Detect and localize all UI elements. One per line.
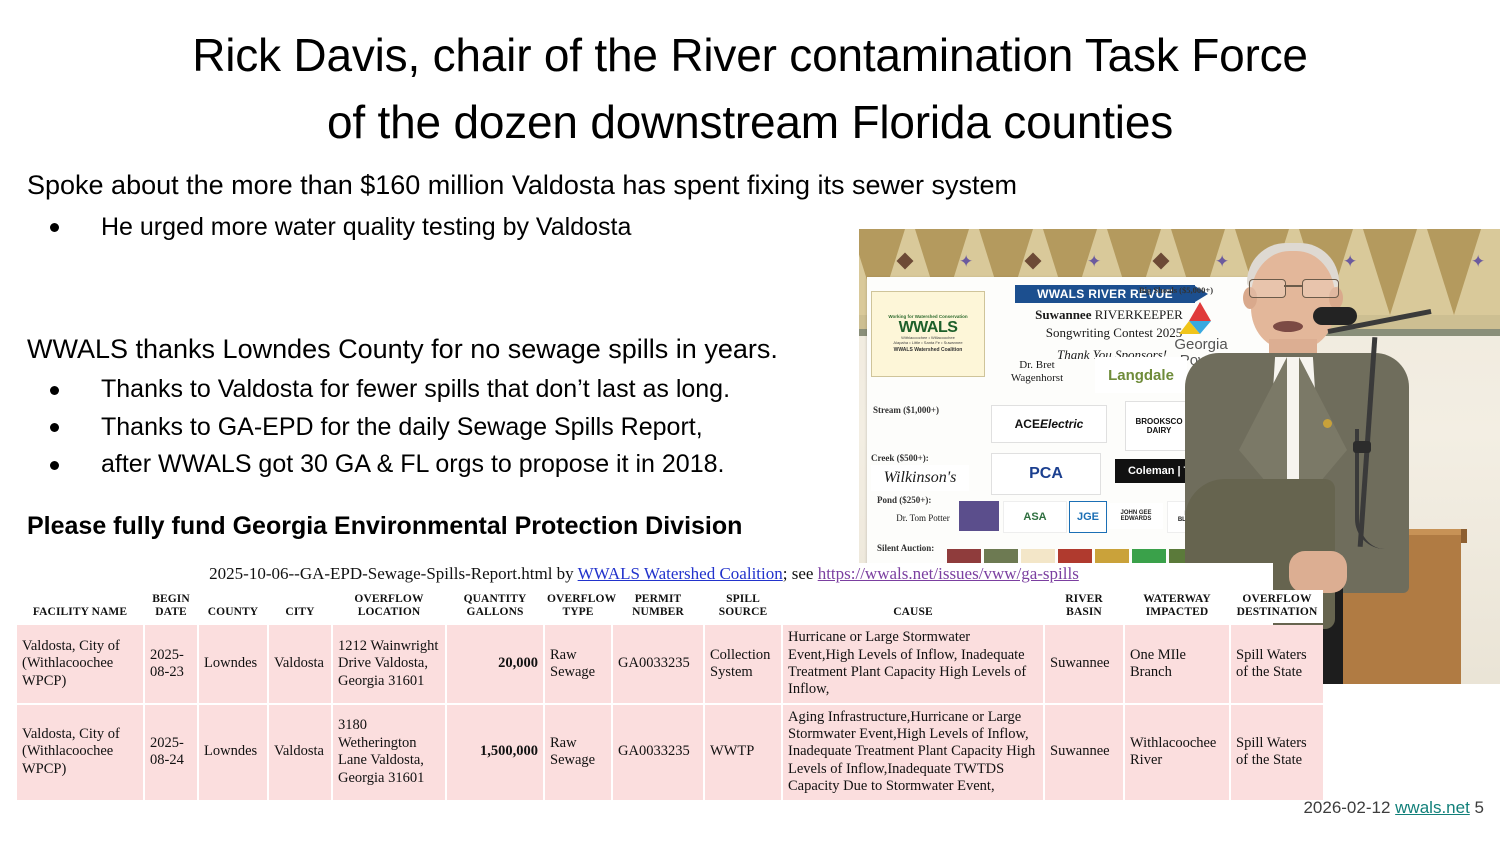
cell-cause: Aging Infrastructure,Hurricane or Large …: [783, 705, 1043, 800]
speaker-mouth: [1273, 321, 1303, 332]
cell-spill-source: Collection System: [705, 625, 781, 703]
column-header-waterway-impacted: WATERWAY IMPACTED: [1125, 590, 1229, 623]
table-head: FACILITY NAME BEGIN DATE COUNTY CITY OVE…: [17, 590, 1323, 623]
microphone-clip: [1353, 441, 1371, 453]
table-body: Valdosta, City of (Withlacoochee WPCP) 2…: [17, 625, 1323, 800]
wwals-logo-org: WWALS Watershed Coalition: [894, 348, 963, 353]
wwals-logo-rivers: Withlacoochee • WillacoocheeAlapaha • Li…: [893, 336, 962, 344]
ace-electric-logo: ACE Electric: [991, 405, 1107, 443]
lead-paragraph-1: Spoke about the more than $160 million V…: [27, 168, 887, 203]
microphone-icon: [1313, 307, 1357, 325]
wwals-logo-wordmark: WWALS: [899, 320, 958, 337]
column-header-city: CITY: [269, 590, 331, 623]
sponsor-name-wagenhorst: Dr. BretWagenhorst: [987, 359, 1087, 385]
column-header-county: COUNTY: [199, 590, 267, 623]
poster-sub-bold: Suwannee: [1035, 307, 1091, 322]
cell-spill-source: WWTP: [705, 705, 781, 800]
list-item: Thanks to Valdosta for fewer spills that…: [27, 371, 887, 409]
slide-footer: 2026-02-12 wwals.net 5: [1303, 798, 1484, 818]
bullet-icon: [50, 223, 59, 232]
list-item-label: Thanks to GA-EPD for the daily Sewage Sp…: [101, 413, 703, 441]
title-line-1: Rick Davis, chair of the River contamina…: [192, 29, 1308, 81]
sewage-spills-table-container: 2025-10-06--GA-EPD-Sewage-Spills-Report.…: [15, 563, 1273, 802]
cell-city: Valdosta: [269, 705, 331, 800]
jge-logo: JGE: [1069, 501, 1107, 533]
cell-city: Valdosta: [269, 625, 331, 703]
tier-label-creek: Creek ($500+):: [871, 453, 929, 463]
title-line-2: of the dozen downstream Florida counties: [0, 89, 1500, 156]
wwals-logo: Working for Watershed Conservation WWALS…: [871, 291, 985, 377]
cell-overflow-location: 1212 Wainwright Drive Valdosta, Georgia …: [333, 625, 445, 703]
body-text: Spoke about the more than $160 million V…: [27, 168, 887, 566]
table-row: Valdosta, City of (Withlacoochee WPCP) 2…: [17, 705, 1323, 800]
cell-county: Lowndes: [199, 705, 267, 800]
sponsor-name-potter: Dr. Tom Potter: [875, 513, 971, 524]
sewage-spills-table: FACILITY NAME BEGIN DATE COUNTY CITY OVE…: [15, 588, 1325, 801]
john-gee-edwards-logo: JOHN GEEEDWARDS: [1109, 503, 1163, 529]
call-to-action-text: Please fully fund Georgia Environmental …: [27, 512, 887, 541]
lead-paragraph-2: WWALS thanks Lowndes County for no sewag…: [27, 332, 887, 367]
cell-facility-name: Valdosta, City of (Withlacoochee WPCP): [17, 625, 143, 703]
slide: Rick Davis, chair of the River contamina…: [0, 0, 1500, 844]
column-header-overflow-location: OVERFLOW LOCATION: [333, 590, 445, 623]
tier-label-pond: Pond ($250+):: [877, 495, 931, 505]
cell-overflow-type: Raw Sewage: [545, 625, 611, 703]
table-caption: 2025-10-06--GA-EPD-Sewage-Spills-Report.…: [15, 563, 1273, 588]
cell-waterway-impacted: Withlacoochee River: [1125, 705, 1229, 800]
table-header-row: FACILITY NAME BEGIN DATE COUNTY CITY OVE…: [17, 590, 1323, 623]
list-item-label: after WWALS got 30 GA & FL orgs to propo…: [101, 450, 724, 478]
column-header-facility-name: FACILITY NAME: [17, 590, 143, 623]
cell-begin-date: 2025-08-24: [145, 705, 197, 800]
column-header-permit-number: PERMIT NUMBER: [613, 590, 703, 623]
poster-sub-rest: RIVERKEEPER: [1091, 307, 1182, 322]
bullet-list-2: Thanks to Valdosta for fewer spills that…: [27, 371, 887, 484]
poster-subtitle-riverkeeper: Suwannee RIVERKEEPER: [1019, 307, 1199, 323]
column-header-spill-source: SPILL SOURCE: [705, 590, 781, 623]
bullet-icon: [50, 461, 59, 470]
eyeglasses-icon: [1249, 279, 1337, 296]
list-item-label: He urged more water quality testing by V…: [101, 213, 631, 241]
list-item: Thanks to GA-EPD for the daily Sewage Sp…: [27, 409, 887, 447]
cell-river-basin: Suwannee: [1045, 625, 1123, 703]
cell-quantity-gallons: 1,500,000: [447, 705, 543, 800]
cell-permit-number: GA0033235: [613, 705, 703, 800]
column-header-river-basin: RIVER BASIN: [1045, 590, 1123, 623]
cell-overflow-type: Raw Sewage: [545, 705, 611, 800]
speaker-head: [1251, 251, 1335, 349]
cell-permit-number: GA0033235: [613, 625, 703, 703]
pca-logo: PCA: [991, 453, 1101, 495]
list-item: after WWALS got 30 GA & FL orgs to propo…: [27, 446, 887, 484]
list-item-label: Thanks to Valdosta for fewer spills that…: [101, 375, 730, 403]
list-item: He urged more water quality testing by V…: [27, 209, 887, 247]
cell-facility-name: Valdosta, City of (Withlacoochee WPCP): [17, 705, 143, 800]
column-header-overflow-type: OVERFLOW TYPE: [545, 590, 611, 623]
tier-label-silent-auction: Silent Auction:: [877, 543, 934, 553]
footer-wwals-link[interactable]: wwals.net: [1395, 798, 1470, 817]
bullet-icon: [50, 386, 59, 395]
asa-logo: ASA: [1003, 501, 1067, 533]
footer-date: 2026-02-12: [1303, 798, 1390, 817]
bullet-list-1: He urged more water quality testing by V…: [27, 209, 887, 247]
page-title: Rick Davis, chair of the River contamina…: [0, 22, 1500, 155]
column-header-cause: CAUSE: [783, 590, 1043, 623]
cell-waterway-impacted: One MIle Branch: [1125, 625, 1229, 703]
footer-page-number: 5: [1475, 798, 1484, 817]
table-row: Valdosta, City of (Withlacoochee WPCP) 2…: [17, 625, 1323, 703]
table-caption-mid: ; see: [783, 564, 818, 583]
cell-cause: Hurricane or Large Stormwater Event,High…: [783, 625, 1043, 703]
tier-label-stream: Stream ($1,000+): [873, 405, 939, 415]
ga-spills-url-link[interactable]: https://wwals.net/issues/vww/ga-spills: [818, 564, 1079, 583]
wwals-watershed-coalition-link[interactable]: WWALS Watershed Coalition: [578, 564, 783, 583]
cell-county: Lowndes: [199, 625, 267, 703]
bullet-icon: [50, 423, 59, 432]
table-caption-prefix: 2025-10-06--GA-EPD-Sewage-Spills-Report.…: [209, 564, 577, 583]
cell-overflow-destination: Spill Waters of the State: [1231, 625, 1323, 703]
sponsor-logo-1: [959, 501, 999, 531]
speaker-hand: [1289, 551, 1347, 593]
cell-begin-date: 2025-08-23: [145, 625, 197, 703]
cell-river-basin: Suwannee: [1045, 705, 1123, 800]
column-header-quantity-gallons: QUANTITY GALLONS: [447, 590, 543, 623]
cell-overflow-destination: Spill Waters of the State: [1231, 705, 1323, 800]
spacer: [27, 246, 887, 332]
column-header-begin-date: BEGIN DATE: [145, 590, 197, 623]
column-header-overflow-destination: OVERFLOW DESTINATION: [1231, 590, 1323, 623]
langdale-logo: Langdale: [1095, 357, 1187, 393]
cell-overflow-location: 3180 Wetherington Lane Valdosta, Georgia…: [333, 705, 445, 800]
cell-quantity-gallons: 20,000: [447, 625, 543, 703]
lapel-pin-icon: [1323, 419, 1332, 428]
wilkinsons-logo: Wilkinson's: [871, 465, 969, 491]
